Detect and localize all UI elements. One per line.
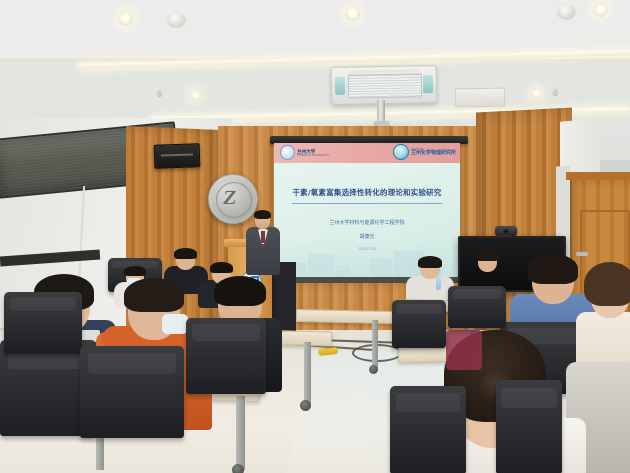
slide-header-band: 兰州大学 LANZHOU UNIVERSITY 中国科学院 兰州化学物理研究所	[274, 143, 460, 163]
downlight-icon	[190, 90, 201, 101]
door-handle-icon[interactable]	[576, 252, 588, 256]
chair	[448, 286, 506, 328]
smoke-detector-icon	[168, 13, 185, 26]
red-seat-cushion	[446, 330, 482, 370]
door-header-trim	[566, 172, 630, 180]
downlight-icon	[118, 11, 133, 26]
slide-affiliation: 兰州大学材料与能源化学工程学院	[274, 219, 460, 226]
downlight-icon	[593, 2, 608, 17]
institute-seal-icon	[393, 144, 409, 160]
desk-leg	[304, 342, 311, 404]
smoke-detector-icon	[558, 5, 575, 18]
image-watermark: · · · ·	[0, 463, 630, 469]
face-mask-icon	[162, 314, 188, 334]
downlight-icon	[345, 6, 360, 21]
presenter-hair	[254, 210, 271, 219]
chair	[390, 386, 466, 473]
lecture-hall-screenshot: Z 兰州大学 LANZHOU UNIVERSITY 中国科学院 兰州化学物理研究…	[0, 0, 630, 473]
presenter-tie	[261, 231, 265, 243]
air-vent-icon	[455, 88, 505, 108]
chair	[186, 318, 266, 394]
chair	[496, 380, 562, 473]
sprinkler-icon	[157, 90, 162, 96]
ceiling-upper-plane	[0, 0, 630, 58]
speaker-icon	[154, 143, 201, 169]
chair	[80, 346, 184, 438]
desk-leg	[236, 396, 245, 470]
ceiling-lower-plane	[0, 61, 630, 113]
sprinkler-icon	[553, 89, 558, 95]
slide-divider	[292, 203, 442, 204]
desk	[296, 309, 394, 324]
chair	[392, 300, 446, 348]
downlight-icon	[531, 88, 542, 99]
presenter-standing-at-lectern	[246, 212, 280, 274]
ceiling-air-conditioner	[331, 65, 438, 105]
lanzhou-university-logo: 兰州大学 LANZHOU UNIVERSITY	[280, 145, 329, 160]
logo-left-subtitle: LANZHOU UNIVERSITY	[297, 154, 329, 157]
institute-logo: 中国科学院 兰州化学物理研究所	[393, 144, 456, 160]
desk-leg	[372, 320, 378, 368]
desk-caster	[369, 365, 378, 374]
lanzhou-university-seal-icon	[280, 145, 295, 160]
desk-caster	[300, 400, 311, 411]
chair	[4, 292, 82, 354]
bottle-icon	[436, 276, 441, 290]
slide-title: 干素/氧素富集选择性转化的理论和实验研究	[284, 187, 450, 198]
logo-right-title: 兰州化学物理研究所	[411, 151, 456, 156]
